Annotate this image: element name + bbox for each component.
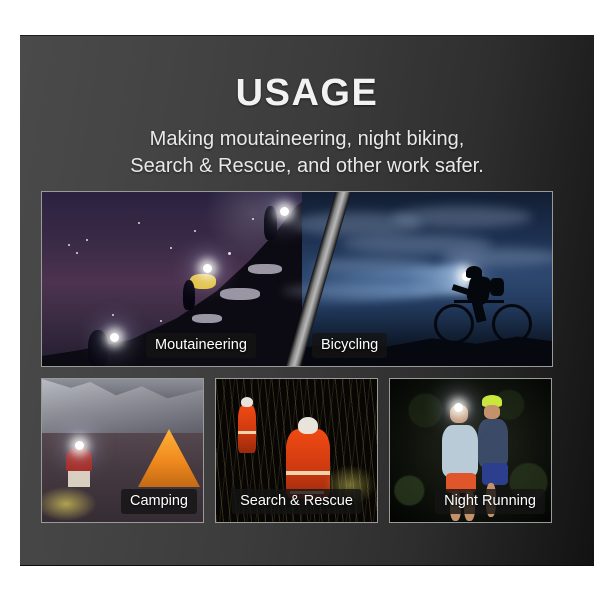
rescuer-helmet-back xyxy=(241,397,253,407)
subtitle-line-2: Search & Rescue, and other work safer. xyxy=(20,153,594,180)
usage-gallery: Moutaineering xyxy=(41,191,553,523)
snow-patch xyxy=(192,314,222,323)
headlamp-light-mid xyxy=(203,264,212,273)
climber-silhouette-low xyxy=(88,330,108,366)
night-running-image[interactable]: Night Running xyxy=(389,378,552,523)
bicycle-front-wheel xyxy=(492,304,532,344)
bottom-row: Camping Search & Rescue xyxy=(41,378,553,523)
climber-silhouette-mid xyxy=(183,280,195,310)
reflective-band xyxy=(238,431,256,434)
headlamp-light-low xyxy=(110,333,119,342)
headlamp-light-top xyxy=(280,207,289,216)
cyclist-backpack xyxy=(490,278,504,296)
header-block: USAGE Making moutaineering, night biking… xyxy=(20,36,594,180)
caption-camping: Camping xyxy=(121,489,197,515)
search-rescue-image[interactable]: Search & Rescue xyxy=(215,378,378,523)
runner-shorts-back xyxy=(482,463,508,485)
snow-patch xyxy=(248,264,282,274)
caption-bicycling: Bicycling xyxy=(312,333,387,359)
rescuer-suit-back xyxy=(238,405,256,453)
caption-night-running: Night Running xyxy=(435,489,545,515)
bicycle-rear-wheel xyxy=(434,304,474,344)
runner-headlamp xyxy=(454,403,463,412)
runner-torso-back xyxy=(478,419,508,467)
subtitle-line-1: Making moutaineering, night biking, xyxy=(20,126,594,153)
camping-image[interactable]: Camping xyxy=(41,378,204,523)
page-subtitle: Making moutaineering, night biking, Sear… xyxy=(20,126,594,180)
caption-search-rescue: Search & Rescue xyxy=(231,489,362,515)
runner-torso-front xyxy=(442,425,478,477)
page-title: USAGE xyxy=(20,74,594,112)
camper-jacket xyxy=(66,449,92,473)
caption-moutaineering: Moutaineering xyxy=(146,333,256,359)
snow-patch xyxy=(220,288,260,300)
climber-silhouette-top xyxy=(264,206,277,240)
bicycle-frame xyxy=(454,300,504,303)
rescuer-helmet-front xyxy=(298,417,318,434)
camper-legs xyxy=(68,471,90,487)
screenshot-root: USAGE Making moutaineering, night biking… xyxy=(0,0,600,600)
usage-card: USAGE Making moutaineering, night biking… xyxy=(20,35,594,566)
reflective-band xyxy=(286,471,330,475)
top-panel: Moutaineering xyxy=(41,191,553,367)
camper-headlamp xyxy=(75,441,84,450)
runner-face-back xyxy=(484,405,500,419)
